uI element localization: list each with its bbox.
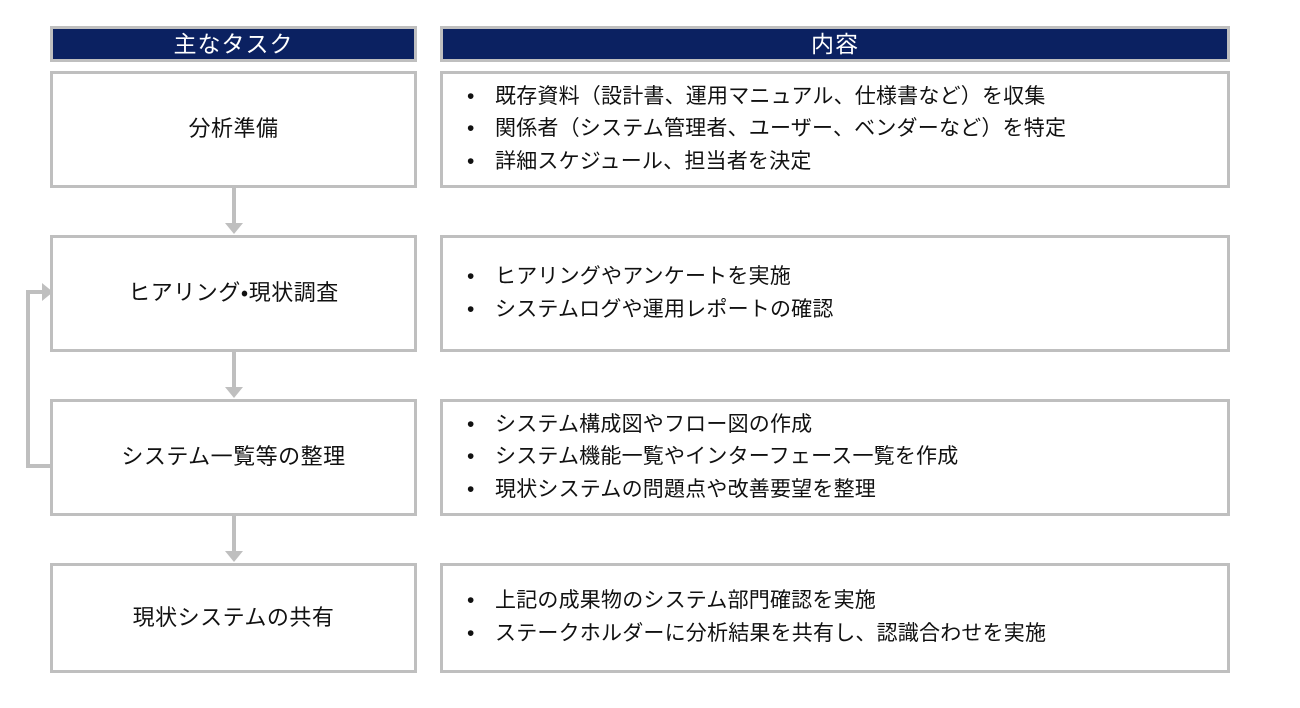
list-item-text: システム機能一覧やインターフェース一覧を作成 — [495, 445, 958, 468]
connector-line-row-2-to-row-3 — [232, 352, 236, 388]
task-label-row-1: 分析準備 — [188, 116, 278, 142]
task-box-row-2[interactable]: ヒアリング・現状調査 — [50, 235, 417, 352]
list-item-text: システムログや運用レポートの確認 — [495, 298, 834, 321]
bullet-list-row-4: • 上記の成果物のシステム部門確認を実施 • ステークホルダーに分析結果を共有し… — [461, 585, 1227, 650]
connector-arrow-row-1-to-row-2 — [225, 223, 243, 234]
list-item: • 関係者（システム管理者、ユーザー、ベンダーなど）を特定 — [461, 113, 1227, 146]
list-item-text: 既存資料（設計書、運用マニュアル、仕様書など）を収集 — [495, 85, 1046, 108]
list-item: • システム構成図やフロー図の作成 — [461, 409, 1227, 442]
list-item: • システムログや運用レポートの確認 — [461, 294, 1227, 327]
list-item-text: ステークホルダーに分析結果を共有し、認識合わせを実施 — [495, 622, 1046, 645]
column-header-task: 主なタスク — [50, 26, 417, 62]
feedback-loop-arrow — [42, 283, 53, 301]
bullet-marker-icon: • — [467, 409, 475, 442]
diagram-canvas: 主なタスク 内容 分析準備 • 既存資料（設計書、運用マニュアル、仕様書など）を… — [0, 0, 1300, 708]
list-item-text: 関係者（システム管理者、ユーザー、ベンダーなど）を特定 — [495, 117, 1066, 140]
bullet-marker-icon: • — [467, 585, 475, 618]
list-item: • 詳細スケジュール、担当者を決定 — [461, 146, 1227, 179]
content-box-row-2[interactable]: • ヒアリングやアンケートを実施 • システムログや運用レポートの確認 — [440, 235, 1230, 352]
list-item-text: 詳細スケジュール、担当者を決定 — [495, 150, 812, 173]
content-box-row-4[interactable]: • 上記の成果物のシステム部門確認を実施 • ステークホルダーに分析結果を共有し… — [440, 563, 1230, 673]
connector-line-row-1-to-row-2 — [232, 188, 236, 224]
list-item: • ヒアリングやアンケートを実施 — [461, 261, 1227, 294]
task-label-row-3: システム一覧等の整理 — [121, 444, 345, 470]
bullet-list-row-2: • ヒアリングやアンケートを実施 • システムログや運用レポートの確認 — [461, 261, 1227, 326]
bullet-list-row-3: • システム構成図やフロー図の作成 • システム機能一覧やインターフェース一覧を… — [461, 409, 1227, 507]
task-box-row-1[interactable]: 分析準備 — [50, 71, 417, 188]
bullet-marker-icon: • — [467, 294, 475, 327]
content-box-row-3[interactable]: • システム構成図やフロー図の作成 • システム機能一覧やインターフェース一覧を… — [440, 399, 1230, 516]
connector-arrow-row-3-to-row-4 — [225, 551, 243, 562]
bullet-marker-icon: • — [467, 618, 475, 651]
bullet-marker-icon: • — [467, 474, 475, 507]
bullet-marker-icon: • — [467, 113, 475, 146]
list-item: • 上記の成果物のシステム部門確認を実施 — [461, 585, 1227, 618]
list-item-text: ヒアリングやアンケートを実施 — [495, 265, 791, 288]
task-box-row-4[interactable]: 現状システムの共有 — [50, 563, 417, 673]
connector-line-row-3-to-row-4 — [232, 516, 236, 552]
content-box-row-1[interactable]: • 既存資料（設計書、運用マニュアル、仕様書など）を収集 • 関係者（システム管… — [440, 71, 1230, 188]
list-item-text: 上記の成果物のシステム部門確認を実施 — [495, 589, 876, 612]
bullet-marker-icon: • — [467, 81, 475, 114]
list-item: • システム機能一覧やインターフェース一覧を作成 — [461, 441, 1227, 474]
column-header-content-label: 内容 — [811, 33, 859, 56]
list-item: • 既存資料（設計書、運用マニュアル、仕様書など）を収集 — [461, 81, 1227, 114]
list-item: • 現状システムの問題点や改善要望を整理 — [461, 474, 1227, 507]
connector-arrow-row-2-to-row-3 — [225, 387, 243, 398]
task-label-row-2: ヒアリング・現状調査 — [128, 280, 338, 306]
task-box-row-3[interactable]: システム一覧等の整理 — [50, 399, 417, 516]
column-header-task-label: 主なタスク — [174, 33, 294, 56]
feedback-loop-vertical-segment — [26, 290, 30, 468]
list-item-text: 現状システムの問題点や改善要望を整理 — [495, 478, 876, 501]
list-item-text: システム構成図やフロー図の作成 — [495, 413, 812, 436]
task-label-row-4: 現状システムの共有 — [133, 605, 335, 631]
column-header-content: 内容 — [440, 26, 1230, 62]
bullet-marker-icon: • — [467, 441, 475, 474]
bullet-list-row-1: • 既存資料（設計書、運用マニュアル、仕様書など）を収集 • 関係者（システム管… — [461, 81, 1227, 179]
list-item: • ステークホルダーに分析結果を共有し、認識合わせを実施 — [461, 618, 1227, 651]
bullet-marker-icon: • — [467, 146, 475, 179]
bullet-marker-icon: • — [467, 261, 475, 294]
